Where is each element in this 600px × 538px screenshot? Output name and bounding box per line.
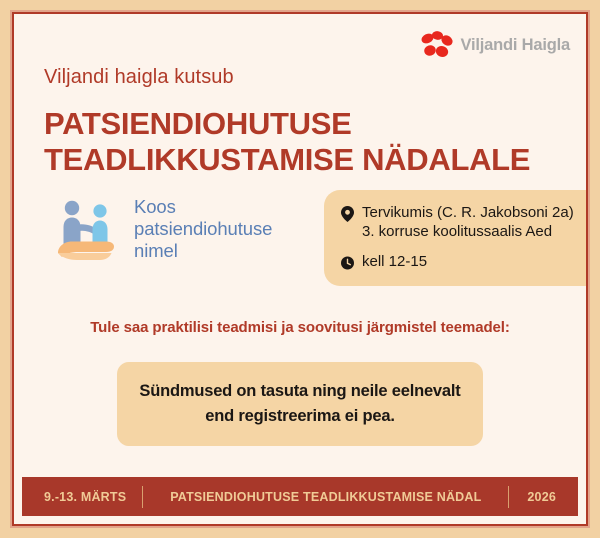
footer-year: 2026	[527, 490, 578, 504]
page-title: PATSIENDIOHUTUSE TEADLIKKUSTAMISE NÄDALA…	[44, 106, 530, 179]
poster-canvas: Viljandi Haigla Viljandi haigla kutsub P…	[0, 0, 600, 538]
campaign-logo-line-2: patsiendiohutuse	[134, 218, 272, 240]
notice-line-1: Sündmused on tasuta ning neile eelnevalt	[137, 379, 463, 404]
footer-title: PATSIENDIOHUTUSE TEADLIKKUSTAMISE NÄDAL	[143, 490, 508, 504]
clock-icon	[341, 255, 354, 271]
campaign-logo-line-1: Koos	[134, 196, 272, 218]
footer-dates: 9.-13. MÄRTS	[22, 490, 126, 504]
event-time: kell 12-15	[341, 253, 576, 272]
poster-content: Viljandi Haigla Viljandi haigla kutsub P…	[14, 14, 586, 524]
poster-inner-frame: Viljandi Haigla Viljandi haigla kutsub P…	[12, 12, 588, 526]
campaign-logo-text: Koos patsiendiohutuse nimel	[134, 196, 272, 261]
hospital-brand: Viljandi Haigla	[420, 30, 570, 60]
event-details-box: Tervikumis (C. R. Jakobsoni 2a) 3. korru…	[324, 190, 586, 286]
event-location-line-2: 3. korruse koolitussaalis Aed	[362, 223, 574, 242]
page-title-line-2: TEADLIKKUSTAMISE NÄDALALE	[44, 142, 530, 178]
campaign-logo-line-3: nimel	[134, 240, 272, 262]
flower-logo-icon	[420, 30, 454, 60]
map-pin-icon	[341, 206, 354, 222]
footer-divider-right	[508, 486, 509, 508]
two-figures-hand-icon	[56, 196, 126, 262]
event-time-text: kell 12-15	[362, 253, 427, 272]
event-location: Tervikumis (C. R. Jakobsoni 2a) 3. korru…	[341, 204, 576, 242]
event-time-value: kell 12-15	[362, 253, 427, 272]
campaign-logo: Koos patsiendiohutuse nimel	[56, 196, 272, 262]
notice-box: Sündmused on tasuta ning neile eelnevalt…	[117, 362, 483, 446]
kicker-text: Viljandi haigla kutsub	[44, 66, 234, 89]
event-location-text: Tervikumis (C. R. Jakobsoni 2a) 3. korru…	[362, 204, 574, 242]
event-location-line-1: Tervikumis (C. R. Jakobsoni 2a)	[362, 204, 574, 223]
page-title-line-1: PATSIENDIOHUTUSE	[44, 106, 352, 141]
hospital-brand-name: Viljandi Haigla	[461, 36, 570, 55]
subtitle-text: Tule saa praktilisi teadmisi ja soovitus…	[14, 319, 586, 336]
footer-bar: 9.-13. MÄRTS PATSIENDIOHUTUSE TEADLIKKUS…	[22, 477, 578, 516]
middle-row: Koos patsiendiohutuse nimel	[14, 190, 586, 290]
notice-line-2: end registreerima ei pea.	[137, 404, 463, 429]
poster-outer-frame: Viljandi Haigla Viljandi haigla kutsub P…	[10, 10, 590, 528]
